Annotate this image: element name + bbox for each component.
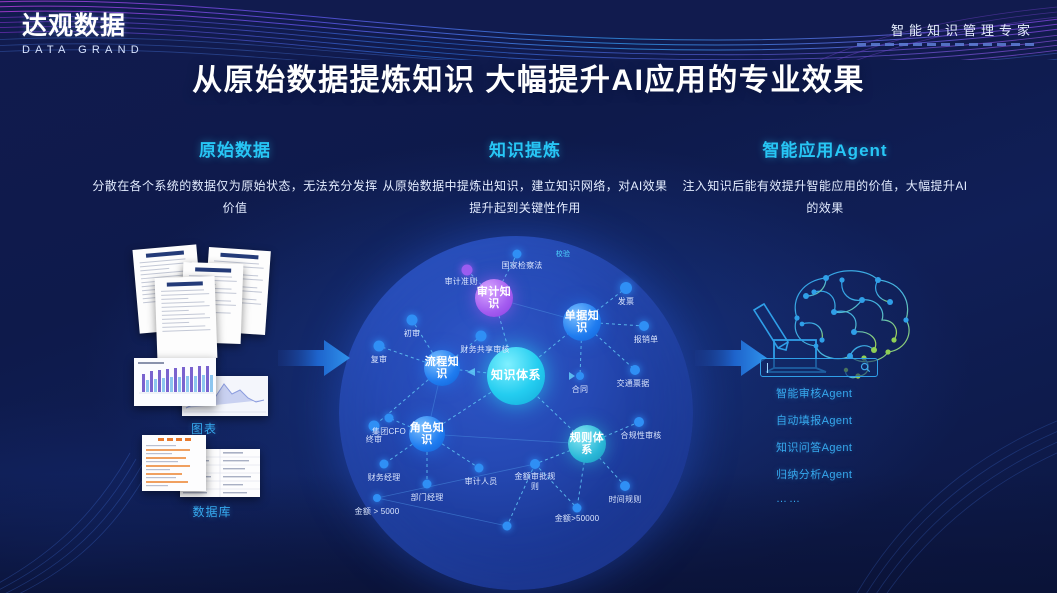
search-icon[interactable] xyxy=(860,362,871,373)
source-charts: 图表 xyxy=(134,358,274,428)
source-documents: 文档 xyxy=(130,245,275,360)
graph-node-dot[interactable] xyxy=(380,460,389,469)
search-bar[interactable] xyxy=(760,358,878,377)
column-title: 知识提炼 xyxy=(380,136,670,161)
graph-label-amount-approval-rule: 金额审批规则 xyxy=(512,472,558,491)
agent-item-smart-review[interactable]: 智能审核Agent xyxy=(776,385,852,401)
graph-label-time-rule: 时间规则 xyxy=(609,494,642,505)
source-database: 数据库 xyxy=(142,435,282,515)
text-caret xyxy=(767,363,768,373)
graph-edges xyxy=(339,236,693,590)
graph-label-audit-standard: 审计准则 xyxy=(445,276,478,287)
graph-node-dot[interactable] xyxy=(503,522,512,531)
graph-node-dot[interactable] xyxy=(374,341,385,352)
graph-node-dot[interactable] xyxy=(423,480,432,489)
graph-node-dot[interactable] xyxy=(639,321,649,331)
graph-label-auditor: 审计人员 xyxy=(465,476,498,487)
graph-label-expense-form: 报销单 xyxy=(634,334,659,345)
graph-label-shared-finance-review: 财务共享审核 xyxy=(460,344,509,355)
column-title: 原始数据 xyxy=(90,136,380,161)
column-title: 智能应用Agent xyxy=(680,136,970,161)
graph-node-dot[interactable] xyxy=(513,250,522,259)
graph-label-national-law: 国家检察法 xyxy=(502,260,543,271)
graph-label-invoice: 发票 xyxy=(618,296,634,307)
graph-hub-process-knowledge[interactable]: 流程知识 xyxy=(424,350,460,386)
source-label-database: 数据库 xyxy=(142,503,282,520)
graph-label-transport-ticket: 交通票据 xyxy=(617,378,650,389)
graph-label-amount-gt-50000: 金额>50000 xyxy=(554,514,600,524)
graph-hub-bill-knowledge[interactable]: 单据知识 xyxy=(563,303,601,341)
tagline-text: 智能知识管理专家 xyxy=(857,24,1035,37)
page-title: 从原始数据提炼知识 大幅提升AI应用的专业效果 xyxy=(0,55,1057,99)
graph-node-dot[interactable] xyxy=(407,315,418,326)
graph-label-finance-manager: 财务经理 xyxy=(368,472,401,483)
graph-node-dot[interactable] xyxy=(475,464,484,473)
document-page xyxy=(155,276,218,360)
graph-label-first-review: 初审 xyxy=(404,328,420,339)
agent-list-more: …… xyxy=(776,493,852,505)
brand-tagline: 智能知识管理专家 xyxy=(857,24,1035,46)
database-report-screenshot xyxy=(142,435,206,491)
logo-text-cn: 达观数据 xyxy=(22,14,144,39)
pencil-icon xyxy=(754,304,788,350)
slide-root: 达观数据 DATA GRAND 智能知识管理专家 从原始数据提炼知识 大幅提升A… xyxy=(0,0,1057,593)
graph-node-dot[interactable] xyxy=(630,365,640,375)
graph-node-dot[interactable] xyxy=(634,417,644,427)
graph-label-contract: 合同 xyxy=(572,384,588,395)
bar-chart xyxy=(134,358,216,406)
column-description: 从原始数据中提炼出知识，建立知识网络，对AI效果提升起到关键性作用 xyxy=(380,175,670,219)
knowledge-graph: 知识体系 审计知识 单据知识 流程知识 角色知识 规则体系 国家检察法 审计准则… xyxy=(339,236,693,590)
graph-edge-label-verify: 校验 xyxy=(556,249,571,259)
graph-node-dot[interactable] xyxy=(530,459,540,469)
graph-hub-center[interactable]: 知识体系 xyxy=(487,347,545,405)
column-heading-raw-data: 原始数据 分散在各个系统的数据仅为原始状态，无法充分发挥价值 xyxy=(90,136,380,219)
graph-node-dot[interactable] xyxy=(620,282,632,294)
graph-node-dot[interactable] xyxy=(476,331,487,342)
graph-label-compliance-review: 合规性审核 xyxy=(621,430,662,441)
graph-node-dot[interactable] xyxy=(573,504,582,513)
column-description: 分散在各个系统的数据仅为原始状态，无法充分发挥价值 xyxy=(90,175,380,219)
tagline-dashed-rule xyxy=(857,43,1035,46)
chart-bar-screenshot xyxy=(134,358,216,406)
report-grid xyxy=(142,435,206,491)
column-heading-agent: 智能应用Agent 注入知识后能有效提升智能应用的价值，大幅提升AI的效果 xyxy=(680,136,970,219)
graph-hub-rule-system[interactable]: 规则体系 xyxy=(568,425,606,463)
agent-item-qa[interactable]: 知识问答Agent xyxy=(776,439,852,455)
column-description: 注入知识后能有效提升智能应用的价值，大幅提升AI的效果 xyxy=(680,175,970,219)
graph-hub-audit-knowledge[interactable]: 审计知识 xyxy=(475,279,513,317)
graph-node-dot[interactable] xyxy=(462,265,473,276)
brand-logo: 达观数据 DATA GRAND xyxy=(22,14,144,56)
agent-item-auto-fill[interactable]: 自动填报Agent xyxy=(776,412,852,428)
graph-label-second-review: 复审 xyxy=(371,354,387,365)
graph-node-dot[interactable] xyxy=(373,494,381,502)
graph-node-dot[interactable] xyxy=(385,414,394,423)
graph-label-dept-manager: 部门经理 xyxy=(411,492,444,503)
graph-hub-role-knowledge[interactable]: 角色知识 xyxy=(409,416,445,452)
agent-item-analysis[interactable]: 归纳分析Agent xyxy=(776,466,852,482)
graph-node-dot[interactable] xyxy=(620,481,630,491)
graph-node-dot[interactable] xyxy=(576,372,584,380)
graph-label-amount-gt-5000: 金额 > 5000 xyxy=(355,506,400,517)
agent-list: 智能审核Agent 自动填报Agent 知识问答Agent 归纳分析Agent … xyxy=(776,385,852,505)
graph-label-group-cfo: 集团CFO xyxy=(372,426,406,437)
column-heading-knowledge-extraction: 知识提炼 从原始数据中提炼出知识，建立知识网络，对AI效果提升起到关键性作用 xyxy=(380,136,670,219)
